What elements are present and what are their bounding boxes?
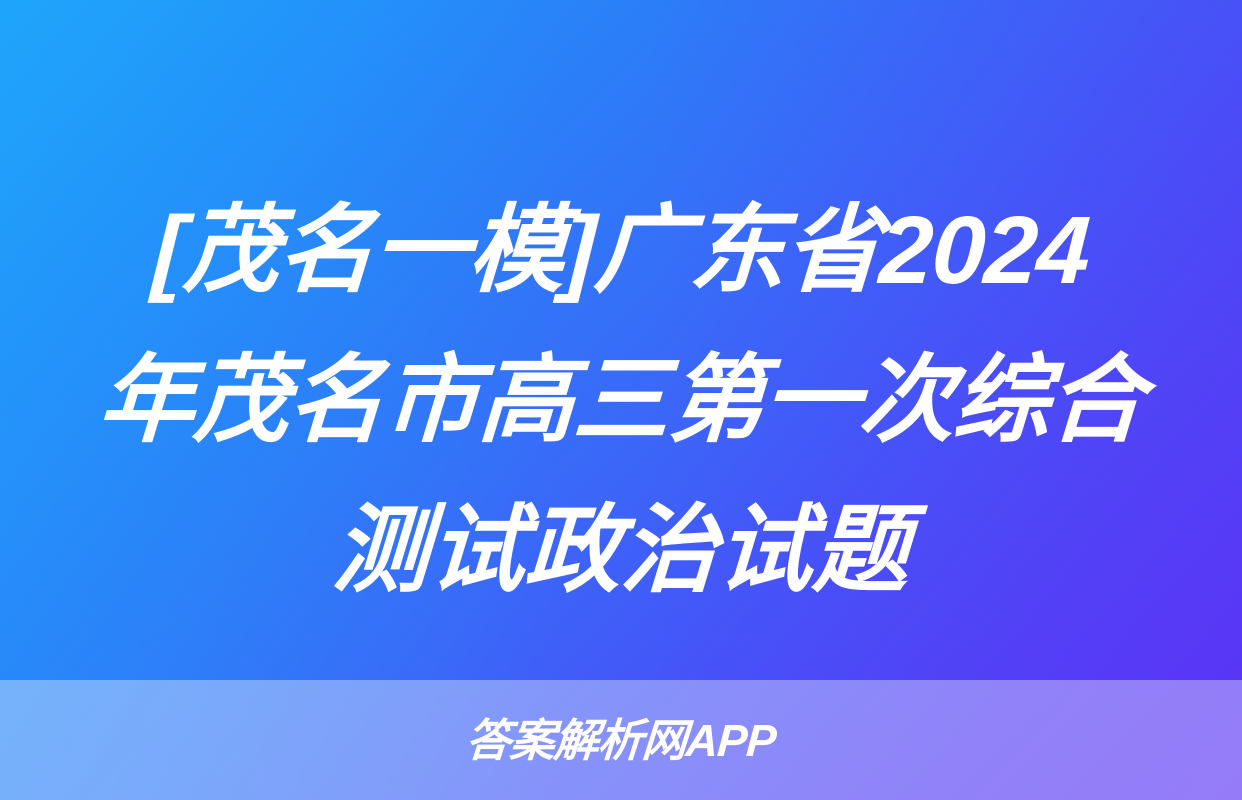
title-line-1: [茂名一模]广东省2024: [58, 176, 1184, 326]
title-line-3: 测试政治试题: [58, 476, 1184, 626]
page-title: [茂名一模]广东省2024 年茂名市高三第一次综合 测试政治试题: [0, 176, 1242, 626]
footer-brand-label: 答案解析网APP: [465, 718, 778, 763]
footer-brand-band: 答案解析网APP: [0, 680, 1242, 800]
title-line-2: 年茂名市高三第一次综合: [58, 326, 1184, 476]
cover-canvas: [茂名一模]广东省2024 年茂名市高三第一次综合 测试政治试题 答案解析网AP…: [0, 0, 1242, 800]
